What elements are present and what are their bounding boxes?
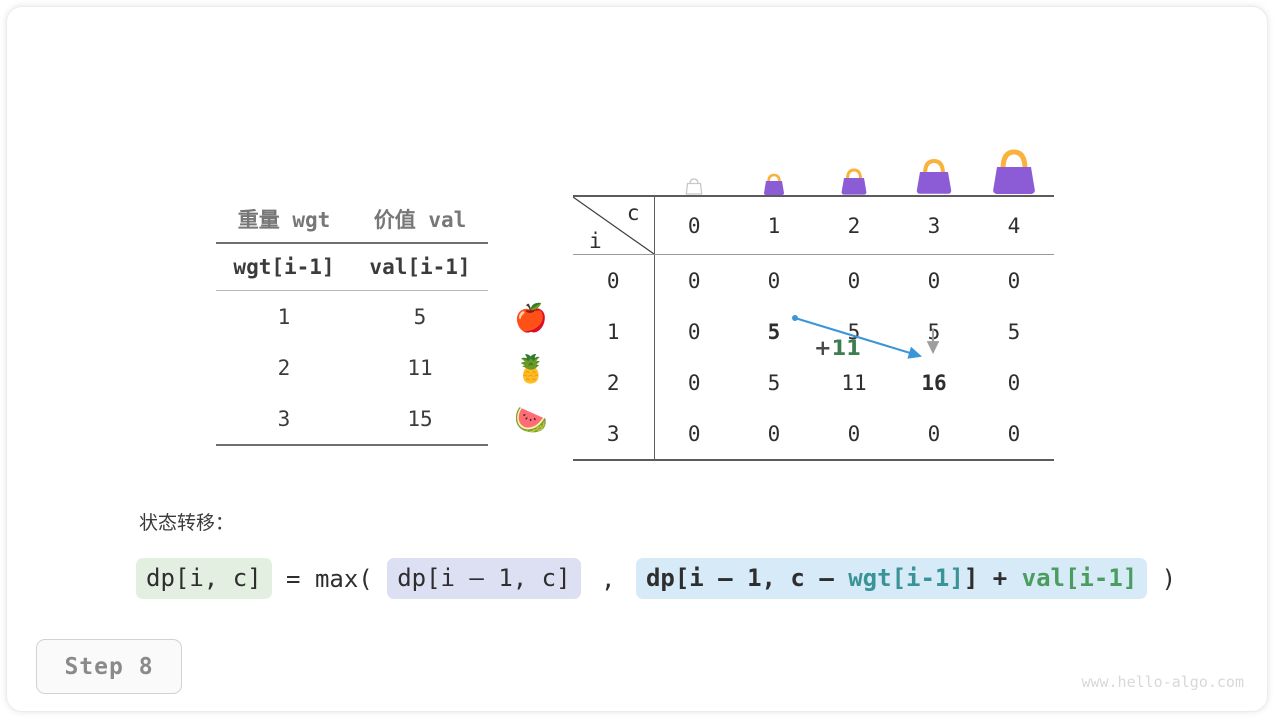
dp-row-header-2: 2 [573,357,654,408]
state-transition-formula: dp[i, c] = max( dp[i – 1, c] , dp[i – 1,… [136,558,1176,599]
fruit-icon-column: 🍎 🍍 🍉 [508,293,554,446]
watermelon-icon: 🍉 [508,395,554,446]
item-weight-2: 2 [216,342,352,393]
dp-cell-3-2: 0 [814,408,894,460]
dp-cell-0-3: 0 [894,255,974,307]
dp-row-header-1: 1 [573,306,654,357]
formula-take-prefix: dp[i – 1, c – [646,564,848,592]
items-subheader-wgt: wgt[i-1] [216,243,352,291]
formula-take-middle: ] + [964,564,1022,592]
gain-plus-sign: + [814,336,832,360]
watermark: www.hello-algo.com [1081,673,1244,691]
dp-corner-cell: c i [573,196,654,255]
dp-cell-1-3: 5 [894,306,974,357]
formula-arg-take: dp[i – 1, c – wgt[i-1]] + val[i-1] [636,558,1147,599]
dp-cell-3-4: 0 [974,408,1054,460]
dp-cell-1-0: 0 [654,306,734,357]
dp-cell-1-1: 5 [734,306,814,357]
bag-xs-icon [734,169,814,195]
dp-cell-2-4: 0 [974,357,1054,408]
dp-cell-2-3: 16 [894,357,974,408]
dp-table: c i 0 1 2 3 4 0 0 0 0 0 0 1 0 [573,195,1054,461]
formula-arg-skip: dp[i – 1, c] [387,558,580,599]
items-table-header-row: 重量 wgt 价值 val [216,190,488,243]
dp-cell-0-4: 0 [974,255,1054,307]
table-row: 0 0 0 0 0 0 [573,255,1054,307]
formula-token-val: val[i-1] [1022,564,1138,592]
items-table: 重量 wgt 价值 val wgt[i-1] val[i-1] 1 5 2 11… [216,190,488,446]
dp-col-header-2: 2 [814,196,894,255]
dp-cell-3-0: 0 [654,408,734,460]
dp-axis-label-c: c [627,201,640,225]
formula-close-paren: ) [1147,565,1176,593]
dp-cell-3-1: 0 [734,408,814,460]
table-row: 2 0 5 11 16 0 [573,357,1054,408]
dp-table-container: c i 0 1 2 3 4 0 0 0 0 0 0 1 0 [573,130,1054,461]
step-badge: Step 8 [36,639,182,694]
bag-l-icon [974,143,1054,195]
table-row: 2 11 [216,342,488,393]
bag-m-icon [894,153,974,195]
bag-s-icon [814,163,894,195]
table-row: 3 0 0 0 0 0 [573,408,1054,460]
dp-cell-0-0: 0 [654,255,734,307]
slide-canvas: 重量 wgt 价值 val wgt[i-1] val[i-1] 1 5 2 11… [0,0,1280,720]
formula-lhs: dp[i, c] [136,558,272,599]
items-table-subheader-row: wgt[i-1] val[i-1] [216,243,488,291]
dp-cell-0-1: 0 [734,255,814,307]
dp-cell-2-2: 11 [814,357,894,408]
knapsack-bag-row [573,130,1054,195]
state-transition-label: 状态转移： [139,508,234,535]
item-value-1: 5 [352,291,488,343]
dp-col-header-1: 1 [734,196,814,255]
formula-equals-max: = max( [272,565,388,593]
dp-col-header-0: 0 [654,196,734,255]
dp-header-row: c i 0 1 2 3 4 [573,196,1054,255]
bag-empty-icon [654,175,734,195]
gain-amount: 11 [832,336,861,360]
item-weight-1: 1 [216,291,352,343]
dp-cell-0-2: 0 [814,255,894,307]
dp-cell-1-4: 5 [974,306,1054,357]
item-value-3: 15 [352,393,488,445]
dp-col-header-3: 3 [894,196,974,255]
apple-icon: 🍎 [508,293,554,344]
items-header-weight: 重量 wgt [216,190,352,243]
dp-col-header-4: 4 [974,196,1054,255]
formula-comma: , [581,565,636,593]
dp-cell-2-1: 5 [734,357,814,408]
pineapple-icon: 🍍 [508,344,554,395]
table-row: 3 15 [216,393,488,445]
dp-row-header-0: 0 [573,255,654,307]
dp-cell-2-0: 0 [654,357,734,408]
items-subheader-val: val[i-1] [352,243,488,291]
item-value-2: 11 [352,342,488,393]
dp-axis-label-i: i [589,229,602,253]
formula-token-wgt: wgt[i-1] [848,564,964,592]
items-header-value: 价值 val [352,190,488,243]
table-row: 1 5 [216,291,488,343]
item-weight-3: 3 [216,393,352,445]
transition-gain-label: +11 [814,336,861,360]
dp-cell-3-3: 0 [894,408,974,460]
dp-row-header-3: 3 [573,408,654,460]
